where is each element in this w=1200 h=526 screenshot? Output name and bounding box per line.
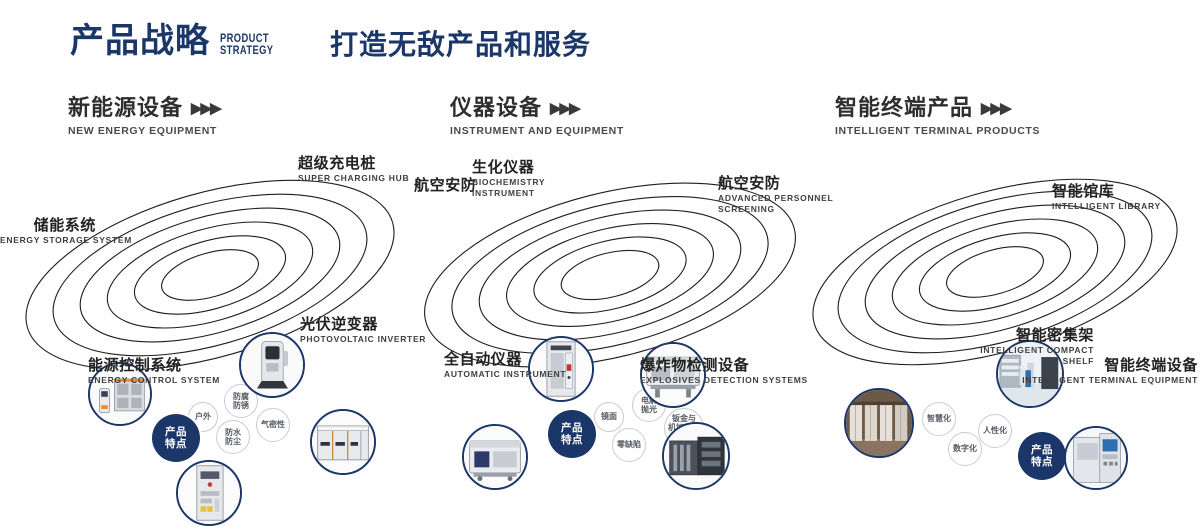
caption-en: INTELLIGENT TERMINAL EQUIPMENT	[980, 375, 1198, 386]
section-title-cn-text: 新能源设备	[68, 96, 183, 122]
feature-bubble-line: 人性化	[983, 426, 1007, 436]
feature-bubble-line: 户外	[195, 412, 211, 422]
core-badge-line1: 产品	[1031, 444, 1053, 456]
node-bubble-automatic-instrument[interactable]	[462, 424, 528, 490]
core-badge-line2: 特点	[165, 438, 187, 450]
feature-bubble: 人性化	[978, 414, 1012, 448]
core-badge-line2: 特点	[561, 434, 583, 446]
caption-en: ENERGY CONTROL SYSTEM	[88, 375, 220, 386]
caption-en: SUPER CHARGING HUB	[298, 173, 409, 184]
section-title-cn: 智能终端产品 ▶▶▶	[835, 96, 1040, 122]
section-title-cn-text: 仪器设备	[450, 96, 542, 122]
chevron-right-icon: ▶▶▶	[981, 96, 1010, 122]
cluster-instrument: 镜面 电解 抛光 零缺陷 钣金与 机加工结合 产品 特点	[400, 160, 820, 380]
caption-en: INTELLIGENT LIBRARY	[1052, 201, 1161, 212]
feature-bubble: 零缺陷	[612, 428, 646, 462]
chevron-right-icon: ▶▶▶	[550, 96, 579, 122]
feature-bubble-line: 数字化	[953, 444, 977, 454]
section-title-intelligent-terminal: 智能终端产品 ▶▶▶ INTELLIGENT TERMINAL PRODUCTS	[835, 96, 1040, 137]
core-badge-line1: 产品	[165, 426, 187, 438]
core-badge-product-features: 产品 特点	[152, 414, 200, 462]
feature-bubble: 气密性	[256, 408, 290, 442]
page-title-en: PRODUCT STRATEGY	[220, 32, 273, 56]
caption-en: AUTOMATIC INSTRUMENT	[444, 369, 566, 380]
section-title-en: NEW ENERGY EQUIPMENT	[68, 125, 220, 137]
explosive-detector-icon	[664, 424, 728, 488]
caption-en: EXPLOSIVES DETECTION SYSTEMS	[640, 375, 808, 386]
node-bubble-explosives-detector[interactable]	[662, 422, 730, 490]
feature-bubble: 数字化	[948, 432, 982, 466]
section-title-new-energy: 新能源设备 ▶▶▶ NEW ENERGY EQUIPMENT	[68, 96, 220, 137]
caption-aviation-security-left: 航空安防	[414, 176, 476, 194]
caption-cn: 智能密集架	[950, 326, 1094, 344]
node-bubble-control-cabinet[interactable]	[176, 460, 242, 526]
charging-pile-icon	[241, 334, 303, 396]
feature-bubble-line: 抛光	[641, 405, 657, 415]
feature-bubble-line: 防水	[225, 428, 241, 438]
node-bubble-charging-pile[interactable]	[239, 332, 305, 398]
section-title-instrument: 仪器设备 ▶▶▶ INSTRUMENT AND EQUIPMENT	[450, 96, 624, 137]
section-title-en: INSTRUMENT AND EQUIPMENT	[450, 125, 624, 137]
caption-cn: 储能系统	[0, 216, 96, 234]
compact-shelf-icon	[846, 390, 912, 456]
caption-cn: 能源控制系统	[88, 356, 220, 374]
caption-cn: 航空安防	[414, 176, 476, 194]
section-title-cn-text: 智能终端产品	[835, 96, 973, 122]
caption-en: ENERGY STORAGE SYSTEM	[0, 235, 96, 246]
cluster-intelligent-terminal: 智慧化 人性化 数字化 产品 特点	[790, 160, 1200, 380]
caption-biochemistry: 生化仪器 BIOCHEMISTRYINSTRUMENT	[472, 158, 545, 198]
section-title-en: INTELLIGENT TERMINAL PRODUCTS	[835, 125, 1040, 137]
core-badge-line1: 产品	[561, 422, 583, 434]
feature-bubble: 镜面	[594, 402, 624, 432]
caption-smart-library: 智能馆库 INTELLIGENT LIBRARY	[1052, 182, 1161, 212]
caption-automatic-instrument: 全自动仪器 AUTOMATIC INSTRUMENT	[444, 350, 566, 380]
chevron-right-icon: ▶▶▶	[191, 96, 220, 122]
caption-explosives-detector: 爆炸物检测设备 EXPLOSIVES DETECTION SYSTEMS	[640, 356, 808, 386]
caption-cn: 智能终端设备	[980, 356, 1198, 374]
caption-cn: 生化仪器	[472, 158, 545, 176]
feature-bubble-line: 智慧化	[927, 414, 951, 424]
page-title-en-line2: STRATEGY	[220, 44, 273, 56]
caption-charging-pile: 超级充电桩 SUPER CHARGING HUB	[298, 154, 409, 184]
feature-bubble-line: 零缺陷	[617, 440, 641, 450]
terminal-kiosk-icon	[1066, 428, 1126, 488]
feature-bubble-line: 镜面	[601, 412, 617, 422]
feature-bubble: 智慧化	[922, 402, 956, 436]
product-strategy-infographic: 产品战略 PRODUCT STRATEGY 打造无敌产品和服务 新能源设备 ▶▶…	[0, 0, 1200, 422]
caption-cn: 超级充电桩	[298, 154, 409, 172]
feature-bubble-line: 防尘	[225, 437, 241, 447]
caption-energy-control: 能源控制系统 ENERGY CONTROL SYSTEM	[88, 356, 220, 386]
core-badge-product-features: 产品 特点	[1018, 432, 1066, 480]
section-title-cn: 新能源设备 ▶▶▶	[68, 96, 220, 122]
caption-cn: 智能馆库	[1052, 182, 1161, 200]
caption-energy-storage: 储能系统 ENERGY STORAGE SYSTEM	[0, 216, 96, 246]
core-badge-line2: 特点	[1031, 456, 1053, 468]
cluster-new-energy: 户外 防腐 防锈 防水 防尘 气密性 产品 特点	[0, 160, 420, 380]
page-subtitle: 打造无敌产品和服务	[330, 28, 591, 62]
automatic-instrument-icon	[464, 426, 526, 488]
node-bubble-terminal-kiosk[interactable]	[1064, 426, 1128, 490]
feature-bubble-line: 防锈	[233, 401, 249, 411]
caption-en: BIOCHEMISTRYINSTRUMENT	[472, 177, 545, 198]
caption-cn: 全自动仪器	[444, 350, 566, 368]
page-title: 产品战略 PRODUCT STRATEGY	[70, 24, 288, 58]
control-cabinet-icon	[178, 462, 240, 524]
caption-terminal-equipment: 智能终端设备 INTELLIGENT TERMINAL EQUIPMENT	[980, 356, 1198, 386]
section-title-cn: 仪器设备 ▶▶▶	[450, 96, 624, 122]
node-bubble-pv-inverter[interactable]	[310, 409, 376, 475]
caption-cn: 爆炸物检测设备	[640, 356, 808, 374]
pv-inverter-cabinet-icon	[312, 411, 374, 473]
page-title-cn: 产品战略	[70, 24, 210, 58]
core-badge-product-features: 产品 特点	[548, 410, 596, 458]
node-bubble-compact-shelf[interactable]	[844, 388, 914, 458]
feature-bubble: 防水 防尘	[216, 420, 250, 454]
orbit-rings	[0, 160, 420, 380]
